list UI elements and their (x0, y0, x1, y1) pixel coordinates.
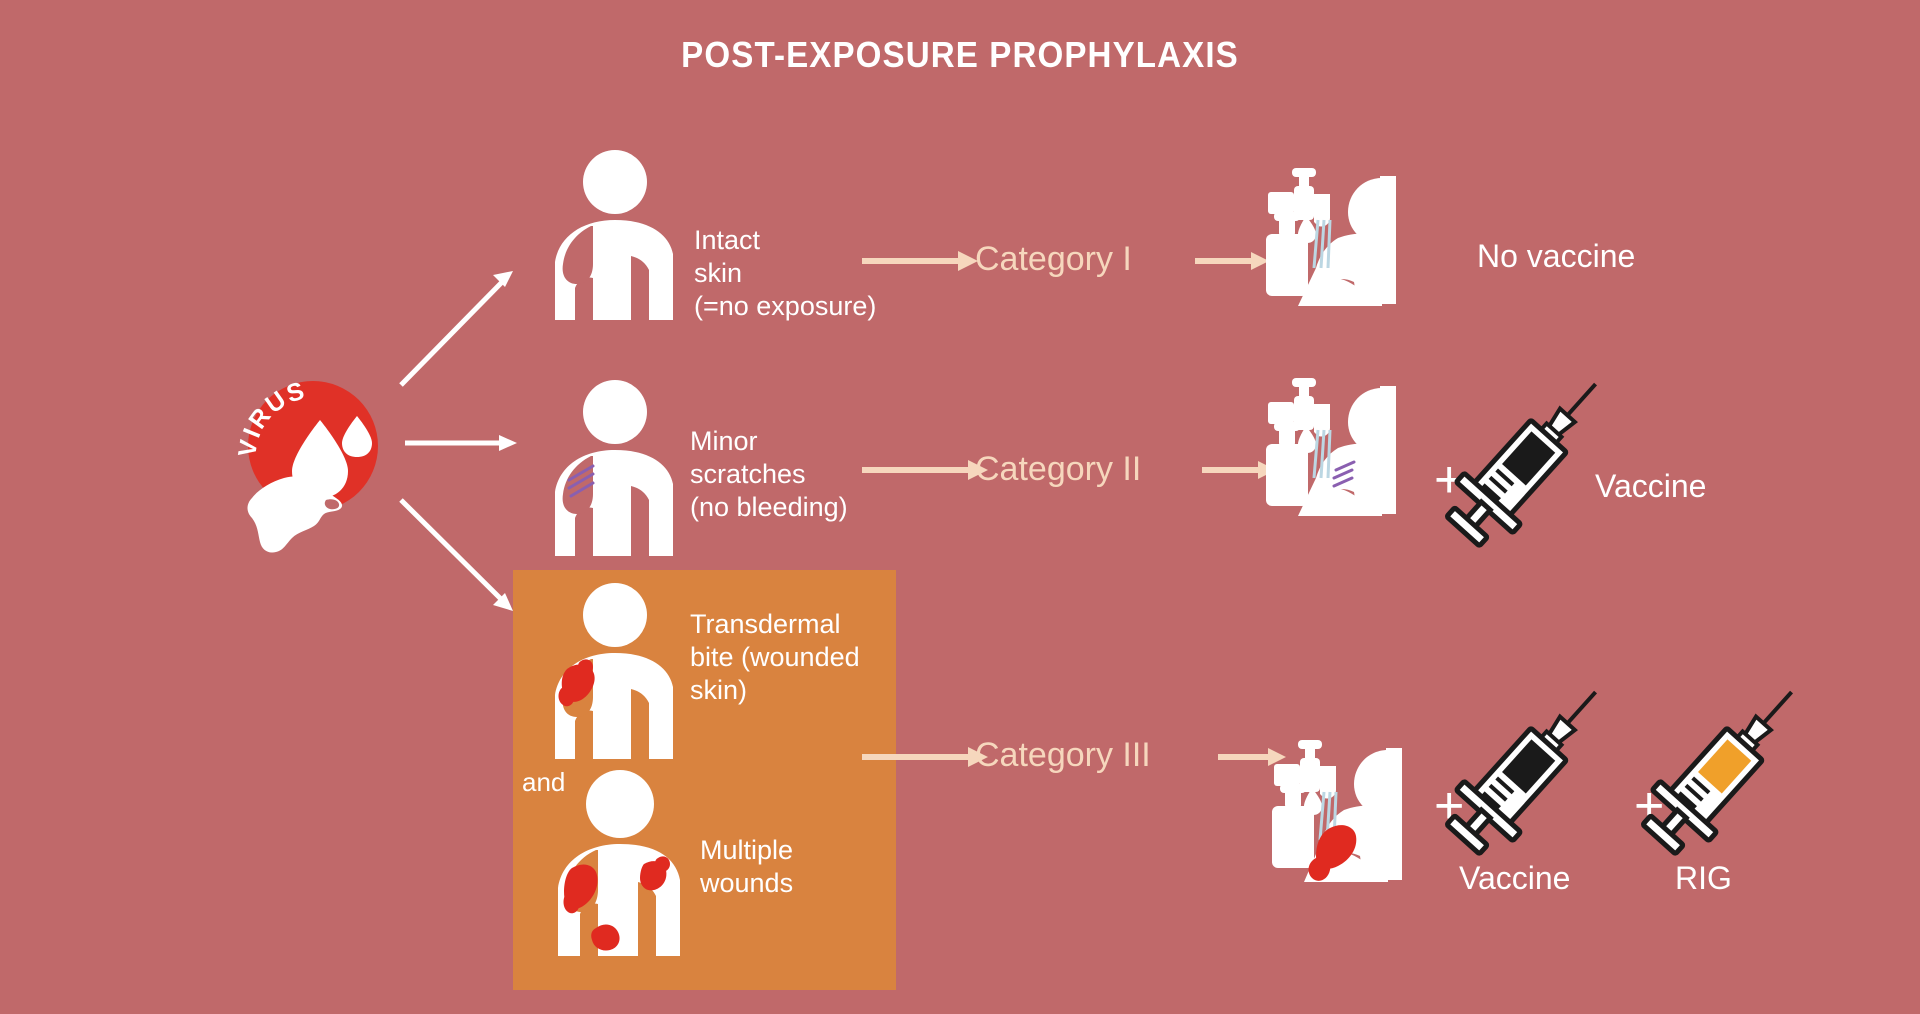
treatment-label-vaccine-row3: Vaccine (1459, 860, 1570, 897)
handwashing-wounds-icon (1268, 728, 1418, 893)
person-multiple-wounds-icon (548, 770, 698, 960)
treatment-label-rig-row3: RIG (1675, 860, 1732, 897)
syringe-rig-icon (1644, 666, 1824, 856)
virus-source-group: VIRUS (240, 378, 400, 558)
syringe-vaccine-icon (1448, 358, 1628, 538)
arrow-category-1 (862, 246, 992, 276)
arrow-to-category-2 (405, 435, 517, 451)
infographic-canvas: POST-EXPOSURE PROPHYLAXIS VIRUS (0, 0, 1920, 1014)
water-stream-icon (1314, 430, 1330, 478)
arrow-to-category-1 (401, 271, 513, 385)
handwashing-icon (1262, 366, 1412, 526)
exposure-label-category-3b: Multiple wounds (700, 834, 920, 900)
treatment-label-vaccine-row2: Vaccine (1595, 468, 1706, 505)
outcome-label-category-1: No vaccine (1477, 238, 1635, 275)
person-intact-skin-icon (545, 150, 685, 320)
virus-badge-icon: VIRUS (240, 378, 400, 558)
water-stream-icon (1314, 220, 1330, 268)
person-transdermal-bite-icon (545, 583, 685, 763)
category-label-2: Category II (975, 450, 1141, 489)
page-title: POST-EXPOSURE PROPHYLAXIS (77, 34, 1843, 76)
category-label-3: Category III (975, 736, 1151, 775)
syringe-vaccine-icon (1448, 666, 1628, 856)
arrow-to-category-3 (401, 500, 513, 611)
handwashing-icon (1262, 156, 1412, 316)
category-label-1: Category I (975, 240, 1132, 279)
exposure-label-category-3a: Transdermal bite (wounded skin) (690, 608, 940, 707)
person-minor-scratches-icon (545, 380, 685, 560)
